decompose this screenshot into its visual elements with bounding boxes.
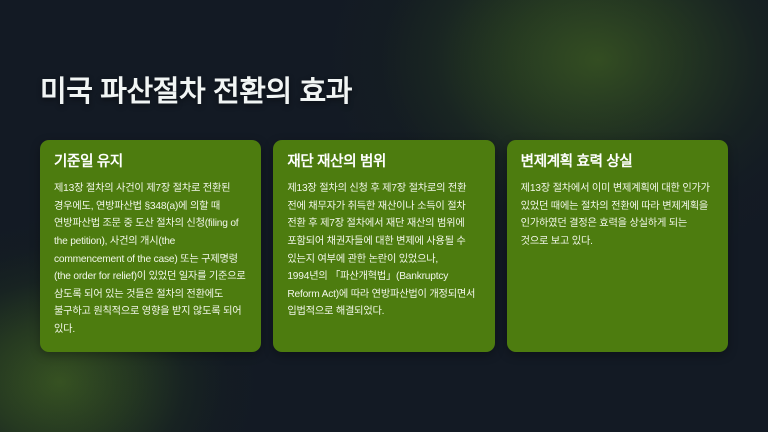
card-body: 제13장 절차의 신청 후 제7장 절차로의 전환 전에 채무자가 취득한 재산… bbox=[287, 180, 480, 320]
card-title: 변제계획 효력 상실 bbox=[521, 154, 714, 171]
card-jaedan-jaesan-beomwi: 재단 재산의 범위 제13장 절차의 신청 후 제7장 절차로의 전환 전에 채… bbox=[273, 140, 494, 352]
card-title: 재단 재산의 범위 bbox=[287, 154, 480, 171]
card-gijunil-yuji: 기준일 유지 제13장 절차의 사건이 제7장 절차로 전환된 경우에도, 연방… bbox=[40, 140, 261, 352]
card-byeonjegyehoek-hyoryeok-sangsil: 변제계획 효력 상실 제13장 절차에서 이미 변제계획에 대한 인가가 있었던… bbox=[507, 140, 728, 352]
card-title: 기준일 유지 bbox=[54, 154, 247, 171]
card-list: 기준일 유지 제13장 절차의 사건이 제7장 절차로 전환된 경우에도, 연방… bbox=[40, 140, 728, 352]
card-body: 제13장 절차의 사건이 제7장 절차로 전환된 경우에도, 연방파산법 §34… bbox=[54, 180, 247, 338]
page-title: 미국 파산절차 전환의 효과 bbox=[40, 68, 352, 110]
slide-root: 미국 파산절차 전환의 효과 기준일 유지 제13장 절차의 사건이 제7장 절… bbox=[0, 0, 768, 432]
card-body: 제13장 절차에서 이미 변제계획에 대한 인가가 있었던 때에는 절차의 전환… bbox=[521, 180, 714, 250]
